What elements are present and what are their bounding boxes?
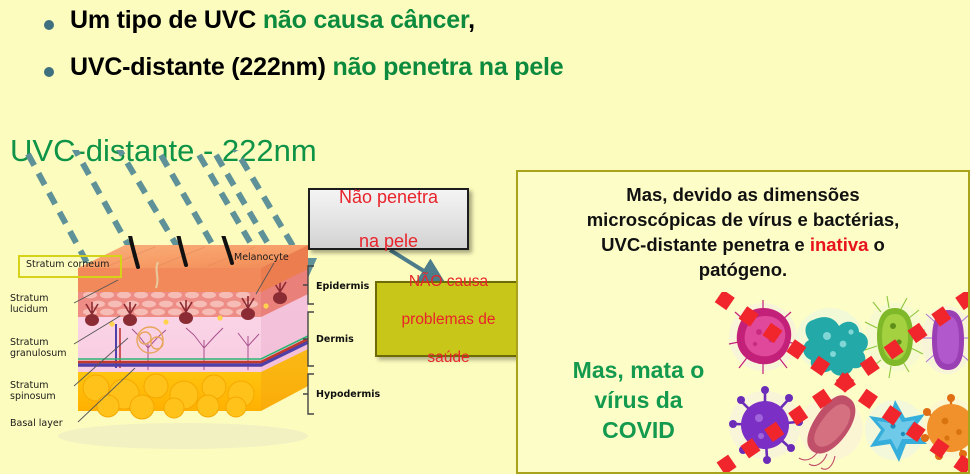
panel-line-3a: UVC-distante penetra e [601,234,810,255]
callout-nao-penetra-na-pele[interactable]: Não penetrana pele [308,188,469,250]
green-note-line-1: Mas, mata o [573,357,705,383]
panel-line-3b: o [868,234,884,255]
red-x-strike [713,292,970,474]
green-note-line-3: COVID [602,417,675,443]
callout-olive-text: NÃO causaproblemas desaúde [402,272,496,367]
panel-line-4: patógeno. [699,259,787,280]
slide-canvas: Um tipo de UVC não causa câncer, UVC-dis… [0,0,970,474]
info-panel: Mas, devido as dimensões microscópicas d… [516,170,970,474]
green-note-line-2: vírus da [594,387,682,413]
panel-paragraph: Mas, devido as dimensões microscópicas d… [518,182,968,282]
callout-gray-text: Não penetrana pele [339,186,438,252]
callout-nao-causa-problemas[interactable]: NÃO causaproblemas desaúde [375,281,522,357]
panel-line-3-highlight: inativa [810,234,869,255]
panel-line-1: Mas, devido as dimensões [626,184,859,205]
panel-line-2: microscópicas de vírus e bactérias, [587,209,900,230]
panel-green-note: Mas, mata o vírus da COVID [536,355,741,445]
